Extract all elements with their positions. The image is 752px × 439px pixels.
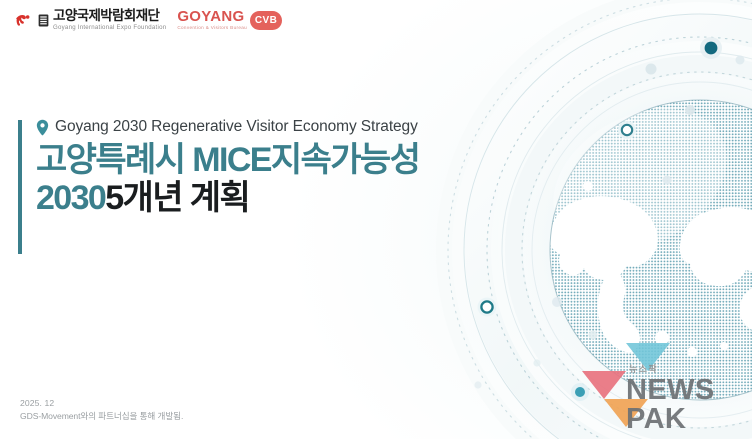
title-year: 2030 — [36, 179, 105, 217]
footnote-credit: GDS-Movement와의 파트너십을 통해 개발됨. — [20, 410, 183, 423]
cvb-badge: CVB — [250, 11, 282, 30]
title-plan-label: 5개년 계획 — [105, 179, 249, 217]
eyebrow-row: Goyang 2030 Regenerative Visitor Economy… — [36, 118, 419, 136]
eyebrow-text: Goyang 2030 Regenerative Visitor Economy… — [55, 118, 418, 136]
footnote-date: 2025. 12 — [20, 397, 183, 410]
watermark-text: 뉴스팍 NEWS PAK — [626, 365, 746, 434]
goyang-cvb-logo[interactable]: GOYANG Convention & Visitors Bureau CVB — [177, 9, 282, 31]
headline-block: Goyang 2030 Regenerative Visitor Economy… — [36, 118, 419, 217]
footnote-block: 2025. 12 GDS-Movement와의 파트너십을 통해 개발됨. — [20, 397, 183, 423]
map-pin-icon — [36, 119, 49, 136]
watermark-kr: 뉴스팍 — [629, 365, 746, 374]
news-pak-watermark: 뉴스팍 NEWS PAK — [570, 343, 746, 429]
slide-canvas: 고양국제박람회재단 Goyang International Expo Foun… — [0, 0, 752, 439]
title-accent-bar — [18, 120, 22, 254]
title-line-1: 고양특례시 MICE지속가능성 — [36, 142, 419, 179]
foundation-name-en: Goyang International Expo Foundation — [53, 25, 166, 31]
watermark-en: NEWS PAK — [626, 376, 746, 434]
title-line-2: 20305개년 계획 — [36, 180, 419, 217]
foundation-seal-icon — [38, 14, 49, 27]
goyang-red-bird-mark-icon — [14, 10, 34, 30]
foundation-name-kr: 고양국제박람회재단 — [53, 9, 166, 23]
logo-bar: 고양국제박람회재단 Goyang International Expo Foun… — [14, 9, 282, 31]
cvb-wordmark: GOYANG — [177, 9, 247, 24]
cvb-tagline: Convention & Visitors Bureau — [177, 26, 247, 31]
foundation-logo[interactable]: 고양국제박람회재단 Goyang International Expo Foun… — [14, 9, 166, 31]
